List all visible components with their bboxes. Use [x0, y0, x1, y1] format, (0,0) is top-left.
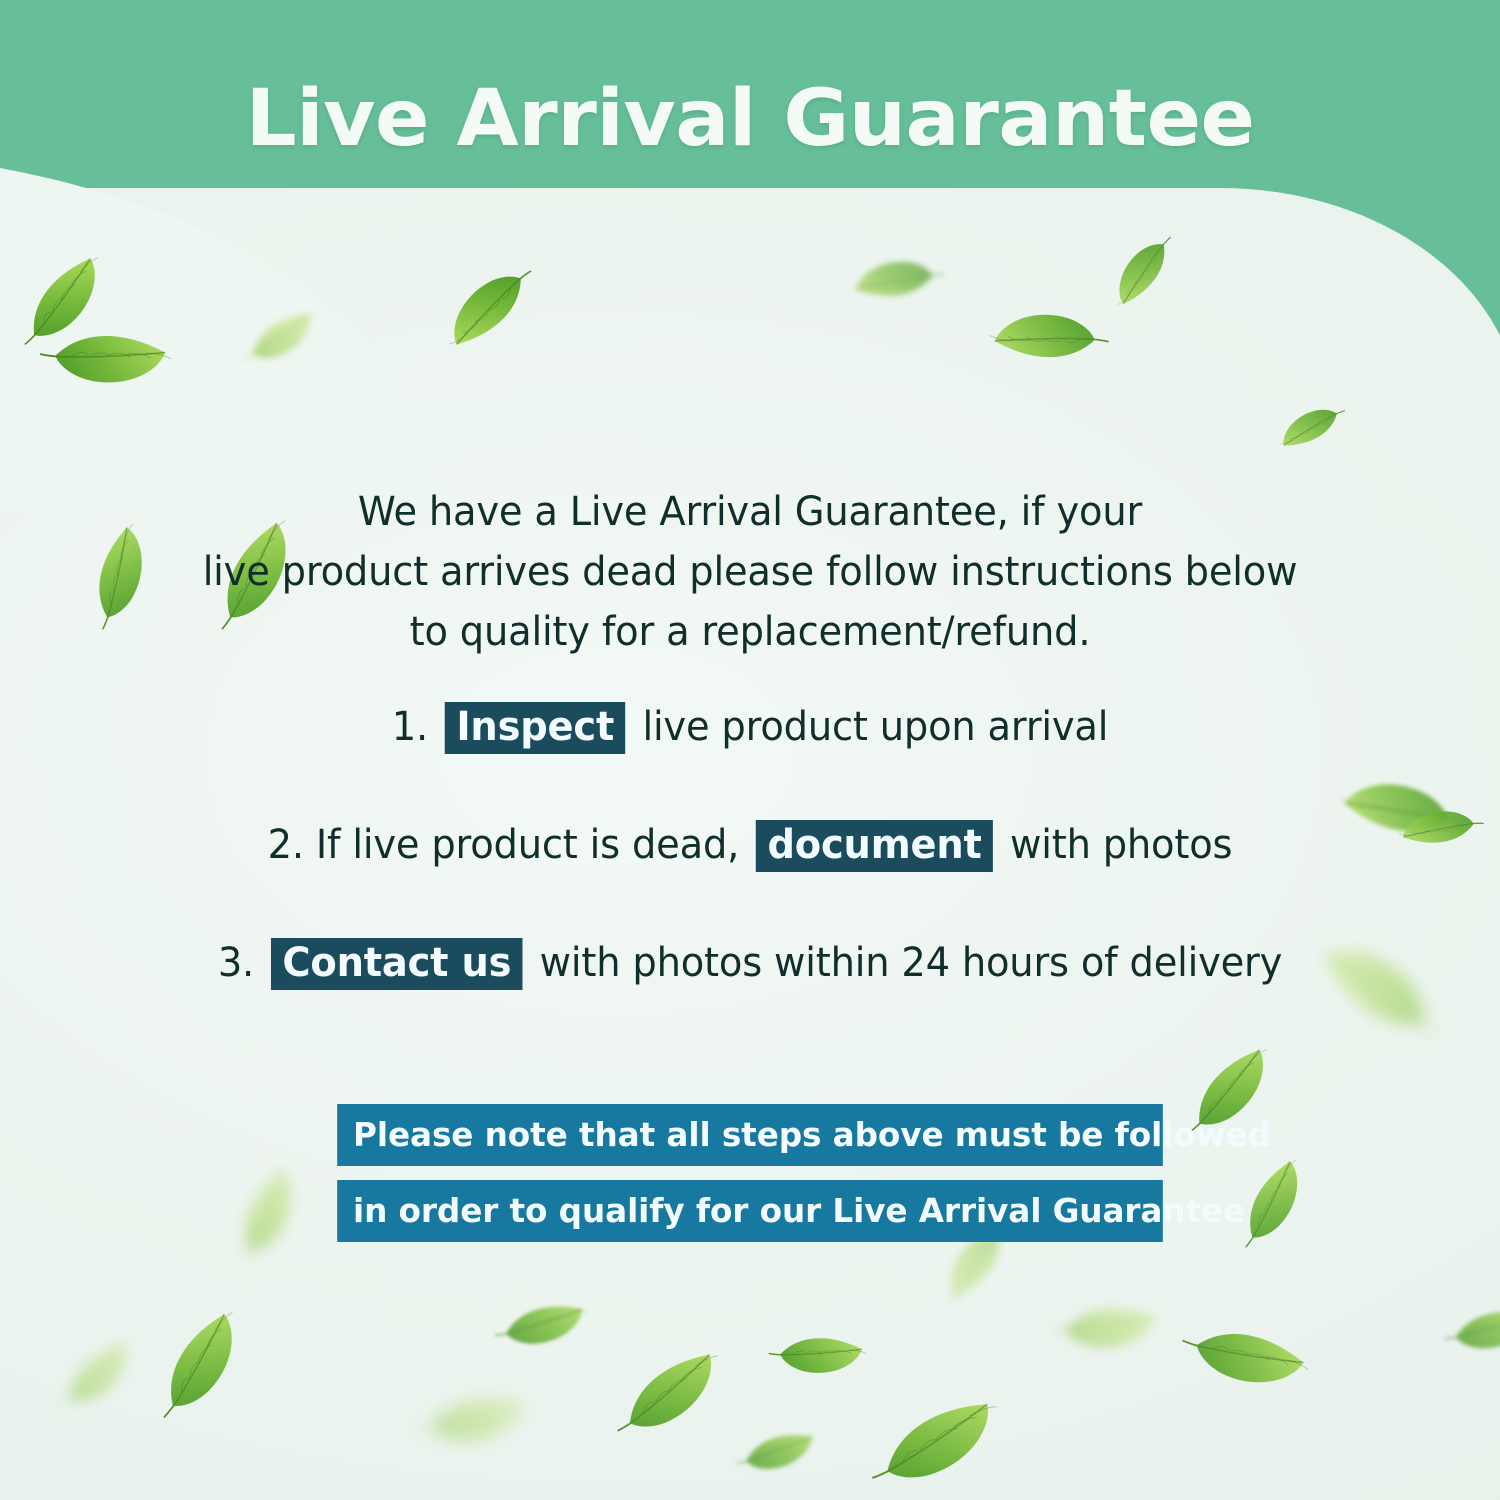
steps-list: 1. Inspect live product upon arrival 2. … — [0, 700, 1500, 990]
step-after-1: live product upon arrival — [642, 704, 1108, 750]
step-after-2: with photos — [1010, 822, 1232, 868]
intro-line-2: live product arrives dead please follow … — [30, 542, 1470, 602]
step-item-1: 1. Inspect live product upon arrival — [30, 700, 1470, 754]
step-number-1: 1. — [392, 704, 428, 750]
notice-block: Please note that all steps above must be… — [0, 1104, 1500, 1242]
step-highlight-1[interactable]: Inspect — [445, 702, 626, 754]
step-highlight-3[interactable]: Contact us — [271, 938, 523, 990]
header-band: Live Arrival Guarantee — [0, 0, 1500, 250]
page-title: Live Arrival Guarantee — [0, 74, 1500, 164]
intro-line-1: We have a Live Arrival Guarantee, if you… — [30, 482, 1470, 542]
step-item-3: 3. Contact us with photos within 24 hour… — [30, 936, 1470, 990]
step-item-2: 2. If live product is dead, document wit… — [30, 818, 1470, 872]
live-arrival-guarantee-graphic: Live Arrival Guarantee We have a Live Ar… — [0, 0, 1500, 1500]
step-highlight-2[interactable]: document — [756, 820, 993, 872]
step-number-3: 3. — [218, 940, 254, 986]
intro-paragraph: We have a Live Arrival Guarantee, if you… — [30, 482, 1470, 662]
step-number-2: 2. — [268, 822, 304, 868]
step-before-2: If live product is dead, — [316, 822, 739, 868]
notice-line-2: in order to qualify for our Live Arrival… — [337, 1180, 1163, 1242]
intro-line-3: to quality for a replacement/refund. — [30, 602, 1470, 662]
notice-line-1: Please note that all steps above must be… — [337, 1104, 1163, 1166]
step-after-3: with photos within 24 hours of delivery — [540, 940, 1282, 986]
